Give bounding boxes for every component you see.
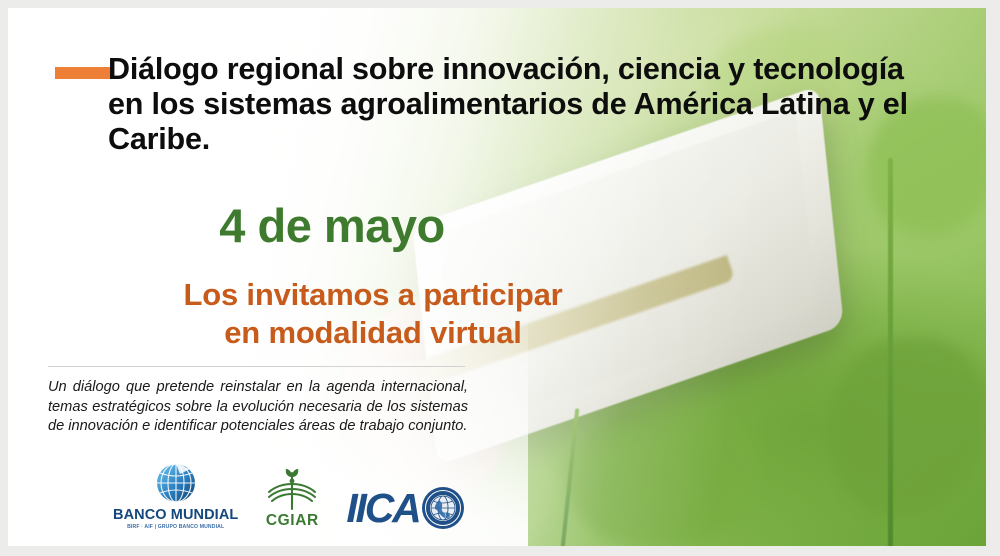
accent-bar [55,67,111,79]
iica-wordmark: IICA [346,488,419,528]
description-paragraph: Un diálogo que pretende reinstalar en la… [48,378,468,437]
invitation-line-2: en modalidad virtual [8,314,738,352]
invitation-text: Los invitamos a participar en modalidad … [8,276,738,352]
page-title: Diálogo regional sobre innovación, cienc… [108,52,918,157]
divider [48,366,465,367]
logo-iica: IICA [346,486,464,530]
event-date: 4 de mayo [8,198,656,253]
world-bank-name: BANCO MUNDIAL [113,508,238,523]
slide-canvas: Diálogo regional sobre innovación, cienc… [8,8,986,546]
slide-content: Diálogo regional sobre innovación, cienc… [8,8,986,546]
invitation-line-1: Los invitamos a participar [8,276,738,314]
world-bank-subtitle: BIRF · AIF | GRUPO BANCO MUNDIAL [113,524,238,530]
cgiar-name: CGIAR [264,512,320,530]
seal-globe-icon [421,486,465,530]
globe-icon [150,460,202,506]
wheat-wings-icon [264,465,320,511]
logo-row: BANCO MUNDIAL BIRF · AIF | GRUPO BANCO M… [113,460,465,530]
logo-cgiar: CGIAR [264,465,320,530]
logo-world-bank: BANCO MUNDIAL BIRF · AIF | GRUPO BANCO M… [113,460,238,530]
